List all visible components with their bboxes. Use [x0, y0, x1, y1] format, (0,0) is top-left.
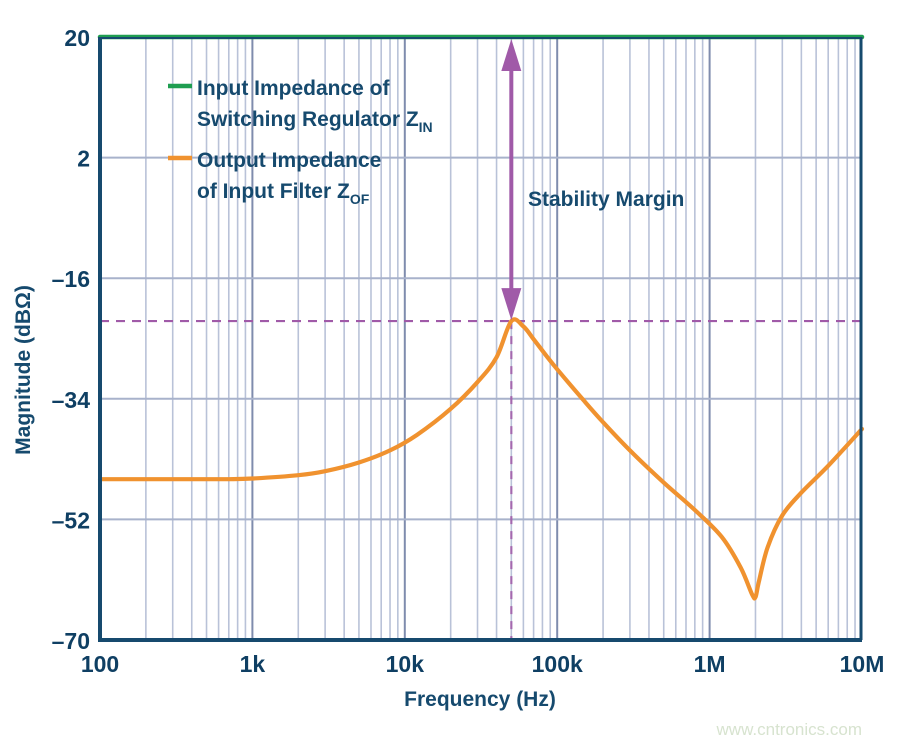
legend-label-output-impedance-line2-text: of Input Filter Z: [197, 180, 350, 203]
legend-label-input-impedance-line2-text: Switching Regulator Z: [197, 108, 419, 131]
x-tick-label: 1k: [240, 651, 266, 677]
impedance-magnitude-chart: 202–16–34–52–70 1001k10k100k1M10M Freque…: [0, 0, 900, 750]
watermark: www.cntronics.com: [716, 720, 862, 739]
legend-label-output-impedance-subscript: OF: [350, 191, 370, 207]
legend-label-input-impedance-line2: Switching Regulator ZIN: [197, 108, 433, 135]
x-tick-label: 10M: [840, 651, 885, 677]
legend-label-output-impedance-line1: Output Impedance: [197, 149, 381, 172]
y-tick-label: 20: [64, 25, 90, 51]
x-axis-tick-labels: 1001k10k100k1M10M: [81, 651, 885, 677]
x-tick-label: 100: [81, 651, 119, 677]
legend-label-input-impedance-line1: Input Impedance of: [197, 77, 391, 100]
x-axis-title: Frequency (Hz): [404, 688, 556, 711]
y-axis-title: Magnitude (dBΩ): [12, 285, 35, 455]
chart-figure: 202–16–34–52–70 1001k10k100k1M10M Freque…: [0, 0, 900, 750]
legend-label-input-impedance-subscript: IN: [419, 119, 433, 135]
x-tick-label: 1M: [694, 651, 726, 677]
stability-margin-label: Stability Margin: [528, 188, 684, 211]
legend-label-output-impedance-line2: of Input Filter ZOF: [197, 180, 370, 207]
y-tick-label: –34: [52, 387, 91, 413]
y-tick-label: –16: [52, 266, 90, 292]
x-tick-label: 100k: [532, 651, 583, 677]
y-tick-label: –52: [52, 507, 90, 533]
x-tick-label: 10k: [386, 651, 425, 677]
y-axis-tick-labels: 202–16–34–52–70: [52, 25, 91, 654]
y-tick-label: 2: [77, 146, 90, 172]
